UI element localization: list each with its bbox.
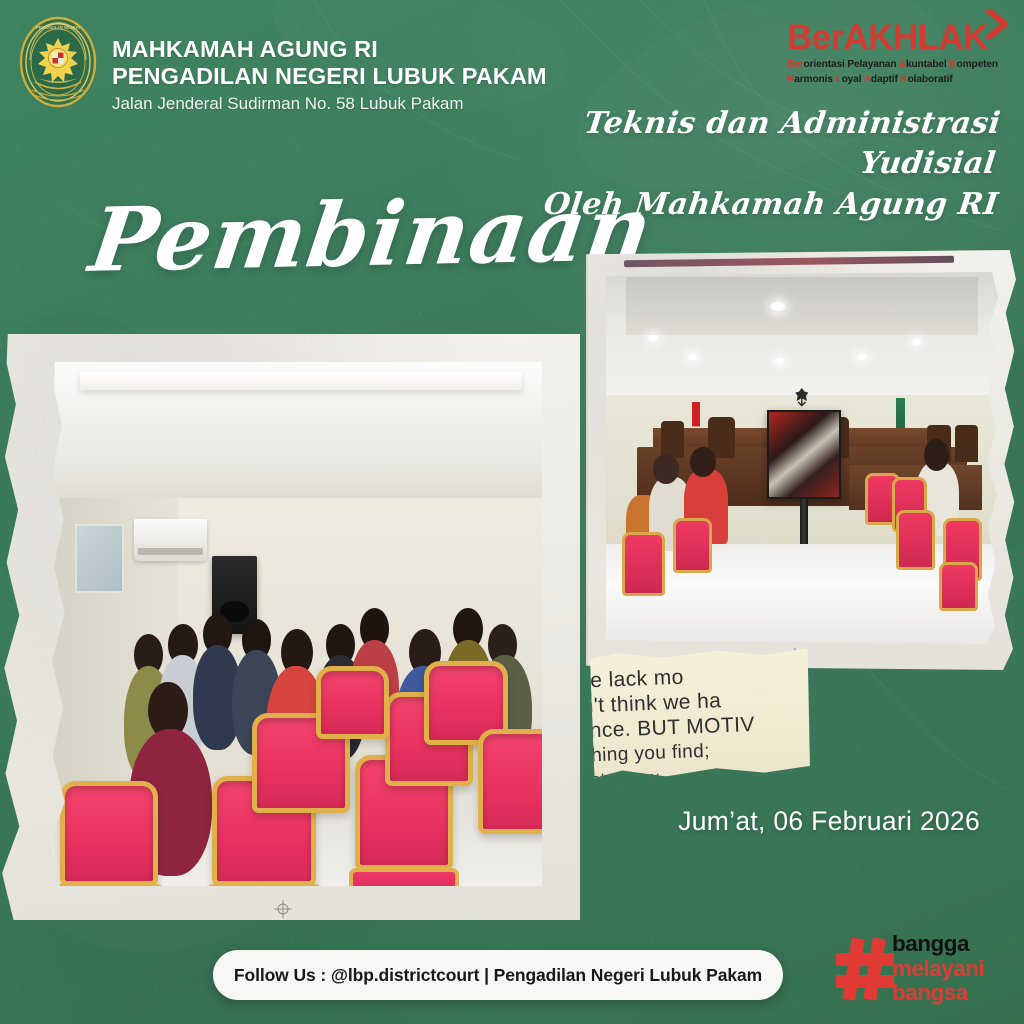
chair bbox=[478, 729, 542, 834]
event-date: Jum’at, 06 Februari 2026 bbox=[678, 806, 980, 837]
bangga-word-2: melayani bbox=[892, 957, 984, 982]
berakhlak-wordmark: BerAKHLAK bbox=[787, 20, 1002, 56]
svg-text:PENGADILAN NEGERI: PENGADILAN NEGERI bbox=[36, 25, 80, 30]
berakhlak-arrow-icon bbox=[985, 9, 1011, 39]
bangga-word-3: bangsa bbox=[892, 981, 984, 1006]
footer-social-pill[interactable]: Follow Us : @lbp.districtcourt | Pengadi… bbox=[213, 950, 783, 1000]
photo-frame-audience bbox=[2, 334, 580, 920]
header-block: PENGADILAN NEGERI MAHKAMAH AGUNG RI PENG… bbox=[18, 16, 547, 116]
photo-audience bbox=[50, 362, 542, 886]
berakhlak-values-line1: Berorientasi Pelayanan Akuntabel Kompete… bbox=[787, 59, 1002, 71]
main-title: Pembinaan bbox=[83, 172, 659, 296]
institution-name-line1: MAHKAMAH AGUNG RI bbox=[112, 36, 547, 63]
photo-courtroom bbox=[606, 272, 998, 644]
bangga-word-1: bangga bbox=[892, 932, 984, 957]
photo-frame-courtroom bbox=[586, 250, 1016, 670]
chair bbox=[60, 781, 158, 886]
bangga-melayani-bangsa-logo: bangga melayani bangsa bbox=[836, 930, 1006, 1012]
berakhlak-values-line2: Harmonis Loyal Adaptif Kolaboratif bbox=[787, 74, 1002, 86]
torn-note-scrap: we lack mo on't think we ha ience. BUT M… bbox=[590, 646, 813, 779]
footer-social-text: Follow Us : @lbp.districtcourt | Pengadi… bbox=[234, 965, 762, 986]
bangga-wordmark: bangga melayani bangsa bbox=[892, 932, 984, 1006]
event-subtitle-line1: Teknis dan Administrasi Yudisial bbox=[473, 104, 1003, 184]
berakhlak-ber-text: Ber bbox=[787, 18, 844, 57]
registration-mark-left bbox=[274, 900, 292, 918]
berakhlak-logo: BerAKHLAK Berorientasi Pelayanan Akuntab… bbox=[787, 20, 1002, 87]
court-seal-icon: PENGADILAN NEGERI bbox=[18, 16, 98, 108]
hashtag-icon bbox=[836, 936, 894, 1002]
chair bbox=[316, 666, 390, 739]
berakhlak-akhlak-text: AKHLAK bbox=[844, 18, 988, 57]
header-text-block: MAHKAMAH AGUNG RI PENGADILAN NEGERI LUBU… bbox=[112, 16, 547, 116]
poster-canvas: PENGADILAN NEGERI MAHKAMAH AGUNG RI PENG… bbox=[0, 0, 1024, 1024]
institution-name-line2: PENGADILAN NEGERI LUBUK PAKAM bbox=[112, 63, 547, 90]
